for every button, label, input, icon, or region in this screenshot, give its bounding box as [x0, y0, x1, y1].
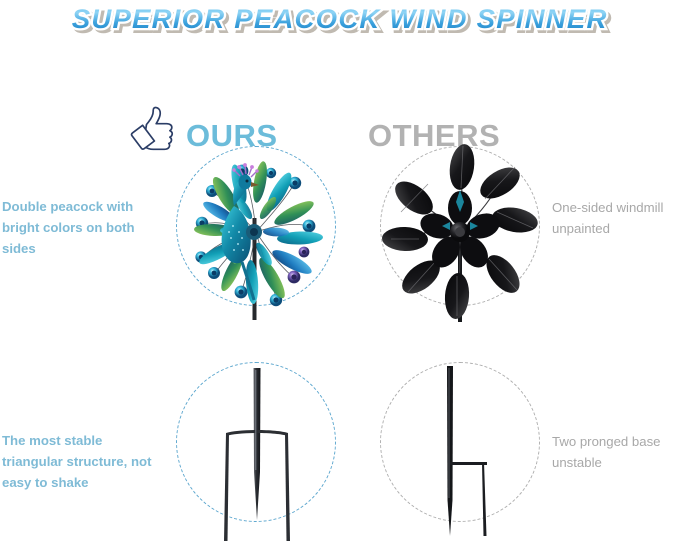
header-row: OURS OTHERS — [0, 52, 679, 108]
comparison-infographic: SUPERIOR PEACOCK WIND SPINNER SUPERIOR P… — [0, 0, 679, 541]
banner: SUPERIOR PEACOCK WIND SPINNER SUPERIOR P… — [0, 2, 679, 36]
page-title: SUPERIOR PEACOCK WIND SPINNER SUPERIOR P… — [72, 4, 608, 35]
ours-bottom-caption: The most stable triangular structure, no… — [2, 430, 154, 493]
two-prong-stake-image — [390, 360, 532, 541]
thumbs-up-icon — [126, 105, 180, 157]
three-prong-triangular-stake-image — [186, 360, 328, 541]
black-leaf-windmill-image — [378, 140, 542, 322]
others-top-caption: One-sided windmill unpainted — [552, 197, 679, 239]
others-bottom-caption: Two pronged base unstable — [552, 431, 679, 473]
ours-top-caption: Double peacock with bright colors on bot… — [2, 196, 152, 259]
title-fill-layer: SUPERIOR PEACOCK WIND SPINNER — [72, 4, 608, 34]
peacock-wind-spinner-image — [176, 140, 336, 320]
